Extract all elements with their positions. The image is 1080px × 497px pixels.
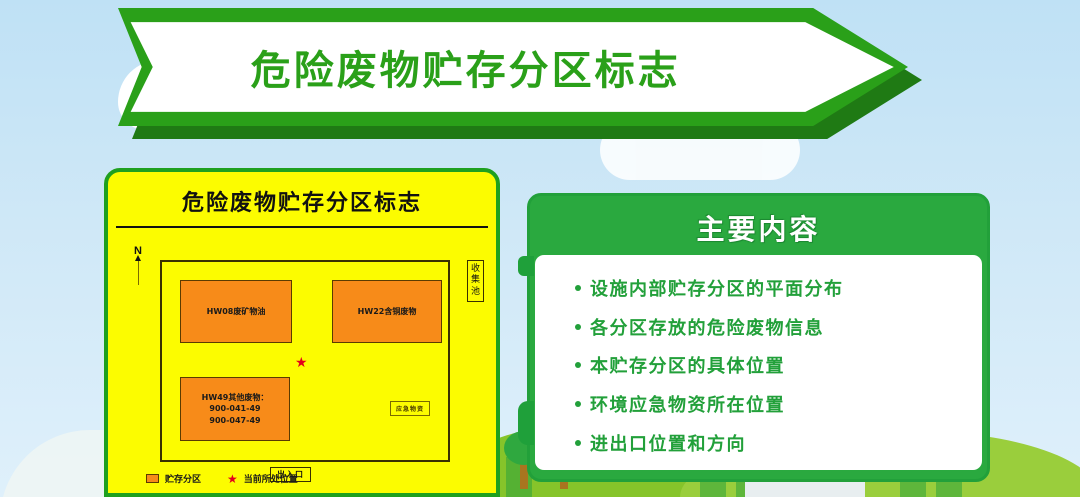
legend-label: 当前所处位置 [244,472,298,485]
compass-north-icon: N [126,246,150,285]
list-item-label: 环境应急物资所在位置 [590,391,785,417]
list-item-label: 本贮存分区的具体位置 [590,352,785,378]
list-item: 各分区存放的危险废物信息 [575,314,964,340]
bullet-icon [575,324,581,330]
collection-pool-label: 收集池 [467,260,484,302]
current-position-star-icon: ★ [227,473,238,485]
list-item-label: 进出口位置和方向 [590,430,746,456]
bullet-icon [575,440,581,446]
list-item: 环境应急物资所在位置 [575,391,964,417]
list-item-label: 各分区存放的危险废物信息 [590,314,824,340]
list-item: 本贮存分区的具体位置 [575,352,964,378]
page-title: 危险废物贮存分区标志 [118,8,813,126]
emergency-supply-label: 应急物资 [390,401,430,416]
current-position-star-icon: ★ [295,355,308,369]
page-header-banner: 危险废物贮存分区标志 [118,8,908,126]
main-content-list: 设施内部贮存分区的平面分布 各分区存放的危险废物信息 本贮存分区的具体位置 环境… [535,255,982,470]
bullet-icon [575,362,581,368]
bullet-icon [575,401,581,407]
facility-outline: HW08废矿物油 HW22含铜废物 HW49其他废物： 900-041-49 9… [160,260,450,462]
list-item: 设施内部贮存分区的平面分布 [575,275,964,301]
hazardous-waste-sign-panel: 危险废物贮存分区标志 N HW08废矿物油 HW22含铜废物 HW49其他废物：… [104,168,500,497]
list-item-label: 设施内部贮存分区的平面分布 [590,275,844,301]
main-content-panel: 主要内容 设施内部贮存分区的平面分布 各分区存放的危险废物信息 本贮存分区的具体… [527,193,990,482]
storage-zone: HW08废矿物油 [180,280,292,343]
sign-title: 危险废物贮存分区标志 [116,176,488,228]
legend-item: ★ 当前所处位置 [227,472,298,485]
map-legend: 贮存分区 ★ 当前所处位置 [146,472,298,485]
list-item: 进出口位置和方向 [575,430,964,456]
panel-tab-decor [518,401,534,445]
compass-arrow-icon [138,259,139,285]
legend-label: 贮存分区 [165,472,201,485]
storage-zone-swatch-icon [146,474,159,483]
panel-tab-decor [518,256,534,276]
storage-zone: HW49其他废物： 900-041-49 900-047-49 [180,377,290,441]
main-content-heading: 主要内容 [535,201,982,255]
bullet-icon [575,285,581,291]
zone-map: N HW08废矿物油 HW22含铜废物 HW49其他废物： 900-041-49… [118,238,486,488]
storage-zone: HW22含铜废物 [332,280,442,343]
legend-item: 贮存分区 [146,472,201,485]
